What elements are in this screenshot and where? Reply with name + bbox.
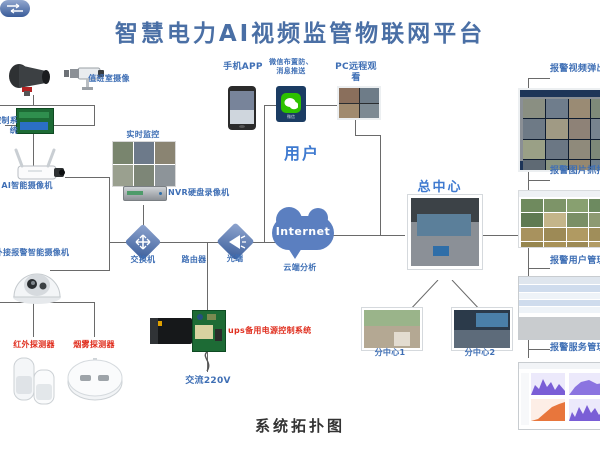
dome-camera-icon xyxy=(10,262,64,306)
nvr-label: NVR硬盘录像机 xyxy=(168,188,230,198)
ac-wave-icon xyxy=(199,352,215,372)
main-center-label: 总中心 xyxy=(400,176,480,195)
nvr-device-icon xyxy=(123,186,167,201)
ac-power-label: 交流220V xyxy=(180,376,236,386)
wechat-label: 微信布置防、消息推送 xyxy=(268,58,314,76)
smoke-detector-label: 烟雾探测器 xyxy=(68,340,120,350)
connector-line xyxy=(528,180,550,181)
control-system-board-icon xyxy=(16,108,54,134)
pc-remote-thumbnail xyxy=(337,86,381,120)
diagram-footer-title: 系统拓扑图 xyxy=(0,415,600,436)
connector-line xyxy=(207,242,208,310)
battery-icon xyxy=(150,318,192,344)
sub-center-2-thumbnail xyxy=(452,308,512,350)
connector-line xyxy=(528,268,550,269)
switch-label: 交换机 xyxy=(127,255,159,265)
right-panel-label-3: 报警服务管理 xyxy=(550,343,600,353)
page-title: 智慧电力AI视频监管物联网平台 xyxy=(0,14,600,48)
realtime-monitor-label: 实时监控 xyxy=(114,130,172,140)
mobile-app-label: 手机APP xyxy=(222,62,264,73)
ups-label: ups备用电源控制系统 xyxy=(228,326,314,336)
sub-center-1-thumbnail xyxy=(362,308,422,350)
topology-diagram-canvas: 智慧电力AI视频监管物联网平台 xyxy=(0,0,600,450)
optical-label: 光端 xyxy=(220,254,250,264)
ups-control-board-icon xyxy=(192,310,226,352)
smoke-detector-icon xyxy=(66,356,126,402)
connector-line xyxy=(109,242,110,270)
mobile-phone-icon xyxy=(228,86,256,130)
switch-device-icon xyxy=(130,229,156,255)
alarm-video-popup-thumbnail xyxy=(518,88,600,172)
right-panel-label-2: 报警用户管理 xyxy=(550,256,600,266)
connector-line xyxy=(380,135,381,235)
cloud-analysis-label: 云端分析 xyxy=(283,262,317,273)
right-panel-label-1: 报警图片抓拍 xyxy=(550,166,600,176)
connector-line xyxy=(0,105,95,106)
users-section-label: 用户 xyxy=(272,140,332,164)
cloud-tail xyxy=(288,248,302,259)
connector-line xyxy=(94,105,95,125)
main-center-thumbnail xyxy=(408,195,482,269)
connector-line xyxy=(355,135,380,136)
right-panel-label-0: 报警视频弹出 xyxy=(550,64,600,74)
outdoor-camera-label: 值班室摄像 xyxy=(88,74,130,84)
pc-remote-label: PC远程观看 xyxy=(334,62,378,84)
connector-line xyxy=(528,349,550,350)
ai-camera-icon xyxy=(4,148,76,184)
connector-line xyxy=(94,302,95,337)
realtime-monitor-thumbnail xyxy=(112,141,176,187)
ai-camera-label: AI智能摄像机 xyxy=(0,181,58,191)
internet-cloud-icon: Internet xyxy=(272,216,334,250)
connector-line xyxy=(528,78,550,79)
wechat-app-icon: 微信 xyxy=(276,86,306,122)
alarm-image-capture-thumbnail xyxy=(518,190,600,248)
internet-label: Internet xyxy=(272,225,334,238)
infrared-detector-icon xyxy=(10,354,62,406)
alarm-siren-icon xyxy=(6,62,54,98)
sub-center-1-label: 分中心1 xyxy=(364,348,416,358)
infrared-detector-label: 红外探测器 xyxy=(8,340,60,350)
connector-line xyxy=(109,177,110,242)
router-label: 路由器 xyxy=(178,255,210,265)
control-system-label: 控制系统 xyxy=(0,116,18,136)
connector-line xyxy=(33,302,34,337)
alarm-user-management-thumbnail xyxy=(518,276,600,340)
wechat-brand: 微信 xyxy=(276,114,306,120)
optical-terminal-icon xyxy=(222,228,249,255)
sub-center-2-label: 分中心2 xyxy=(454,348,506,358)
connector-line xyxy=(264,105,265,242)
external-alarm-camera-label: 外接报警智能摄像机 xyxy=(0,248,72,258)
